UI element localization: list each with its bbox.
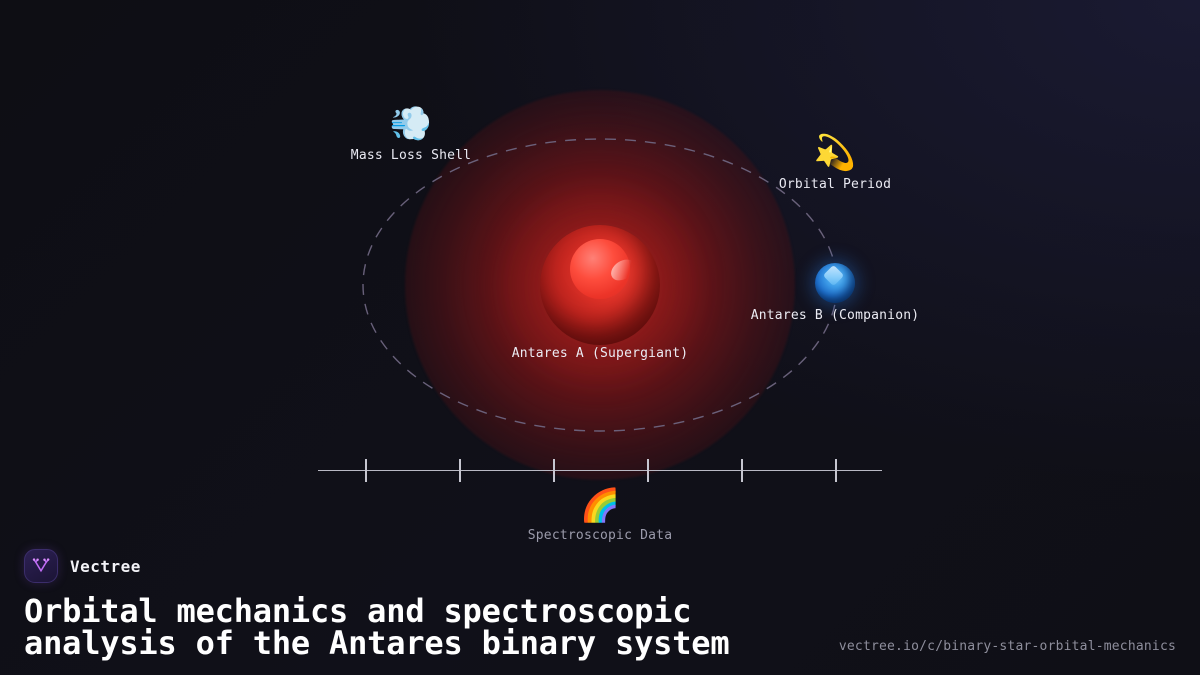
spectrum-axis [318,470,882,471]
annotation-spectroscopic-data: 🌈 Spectroscopic Data [528,486,672,544]
wind-cloud-icon: 💨 [351,104,471,144]
antares-a-star [540,225,660,345]
spectrum-tick [365,459,367,482]
footer: Vectree Orbital mechanics and spectrosco… [0,549,1200,675]
antares-b-star [815,263,855,303]
spectrum-tick [835,459,837,482]
page-title: Orbital mechanics and spectroscopic anal… [24,595,814,659]
spectrum-tick [553,459,555,482]
antares-b-label: Antares B (Companion) [751,308,920,324]
antares-a-label: Antares A (Supergiant) [512,346,689,362]
vectree-logo-icon [24,549,58,583]
brand-name: Vectree [70,557,141,576]
annotation-orbital-period: 💫 Orbital Period [779,133,891,193]
rainbow-icon: 🌈 [528,486,672,524]
source-url: vectree.io/c/binary-star-orbital-mechani… [839,639,1176,654]
antares-a-highlight [570,239,630,299]
annotation-mass-loss-shell: 💨 Mass Loss Shell [351,104,471,164]
spectrum-tick [459,459,461,482]
annotation-spectroscopic-data-label: Spectroscopic Data [528,528,672,543]
dizzy-star-icon: 💫 [779,133,891,173]
brand: Vectree [24,549,1176,583]
antares-a-specular [607,255,639,284]
spectrum-tick [647,459,649,482]
spectrum-tick [741,459,743,482]
antares-b-highlight [823,265,844,286]
annotation-orbital-period-label: Orbital Period [779,177,891,192]
annotation-mass-loss-shell-label: Mass Loss Shell [351,148,471,163]
